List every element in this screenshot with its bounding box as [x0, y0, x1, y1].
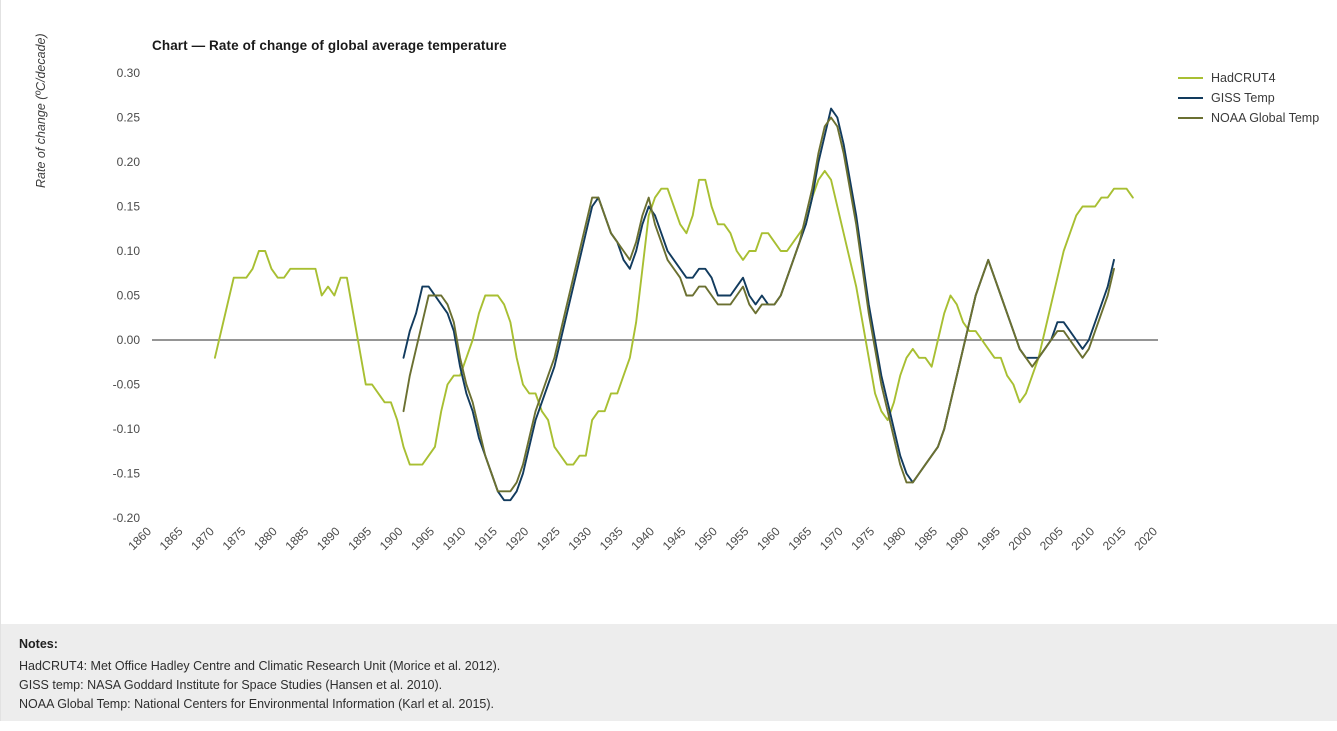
legend-swatch-icon — [1178, 97, 1203, 100]
x-tick-label: 1940 — [628, 524, 657, 553]
y-tick-label: -0.15 — [113, 467, 141, 481]
chart-region: Chart — Rate of change of global average… — [0, 0, 1337, 610]
page-bottom-edge — [0, 721, 1337, 731]
x-tick-label: 1885 — [283, 524, 312, 553]
x-tick-label: 1950 — [691, 524, 720, 553]
legend-item-noaa-global-temp[interactable]: NOAA Global Temp — [1178, 108, 1337, 128]
notes-panel: Notes: HadCRUT4: Met Office Hadley Centr… — [1, 624, 1337, 721]
x-tick-label: 1880 — [251, 524, 280, 553]
notes-line-hadcrut4: HadCRUT4: Met Office Hadley Centre and C… — [19, 657, 500, 676]
x-tick-label: 1910 — [440, 524, 469, 553]
x-tick-label: 1890 — [314, 524, 343, 553]
x-tick-label: 1905 — [408, 524, 437, 553]
x-tick-label: 1915 — [471, 524, 500, 553]
x-tick-label: 1965 — [786, 524, 815, 553]
notes-heading: Notes: — [19, 637, 500, 651]
series-line-giss-temp — [404, 109, 1114, 501]
x-tick-label: 2010 — [1068, 524, 1097, 553]
x-tick-label: 1865 — [157, 524, 186, 553]
x-tick-label: 1980 — [880, 524, 909, 553]
legend-item-hadcrut4[interactable]: HadCRUT4 — [1178, 68, 1337, 88]
x-tick-label: 2005 — [1037, 524, 1066, 553]
notes-line-giss: GISS temp: NASA Goddard Institute for Sp… — [19, 676, 500, 695]
notes-line-noaa: NOAA Global Temp: National Centers for E… — [19, 695, 500, 714]
x-tick-label: 1970 — [817, 524, 846, 553]
x-tick-label: 2000 — [1006, 524, 1035, 553]
x-tick-label: 1860 — [125, 524, 154, 553]
x-tick-label: 1955 — [723, 524, 752, 553]
x-tick-label: 1990 — [943, 524, 972, 553]
legend-swatch-icon — [1178, 117, 1203, 120]
x-tick-label: 1960 — [754, 524, 783, 553]
x-tick-label: 1985 — [911, 524, 940, 553]
chart-series-group — [215, 109, 1133, 501]
y-axis-ticks: 0.300.250.200.150.100.050.00-0.05-0.10-0… — [113, 66, 141, 525]
legend-label: HadCRUT4 — [1211, 71, 1276, 85]
chart-plot-svg: 0.300.250.200.150.100.050.00-0.05-0.10-0… — [0, 0, 1337, 610]
legend-item-giss-temp[interactable]: GISS Temp — [1178, 88, 1337, 108]
x-tick-label: 2020 — [1131, 524, 1160, 553]
y-tick-label: -0.10 — [113, 422, 141, 436]
y-tick-label: -0.05 — [113, 378, 141, 392]
y-tick-label: 0.20 — [117, 155, 141, 169]
legend-swatch-icon — [1178, 77, 1203, 80]
y-tick-label: 0.10 — [117, 244, 141, 258]
y-tick-label: 0.30 — [117, 66, 141, 80]
notes-content: Notes: HadCRUT4: Met Office Hadley Centr… — [19, 637, 500, 714]
y-tick-label: 0.05 — [117, 289, 141, 303]
x-tick-label: 1925 — [534, 524, 563, 553]
series-line-hadcrut4 — [215, 171, 1133, 465]
y-tick-label: 0.00 — [117, 333, 141, 347]
y-tick-label: 0.25 — [117, 111, 141, 125]
series-line-noaa-global-temp — [404, 118, 1114, 492]
x-tick-label: 1895 — [345, 524, 374, 553]
x-tick-label: 2015 — [1100, 524, 1129, 553]
x-tick-label: 1935 — [597, 524, 626, 553]
x-tick-label: 1900 — [377, 524, 406, 553]
legend-label: NOAA Global Temp — [1211, 111, 1319, 125]
x-tick-label: 1870 — [188, 524, 217, 553]
x-tick-label: 1930 — [565, 524, 594, 553]
x-tick-label: 1975 — [848, 524, 877, 553]
x-tick-label: 1945 — [660, 524, 689, 553]
x-tick-label: 1995 — [974, 524, 1003, 553]
x-tick-label: 1875 — [220, 524, 249, 553]
y-tick-label: -0.20 — [113, 511, 141, 525]
y-tick-label: 0.15 — [117, 200, 141, 214]
chart-legend: HadCRUT4GISS TempNOAA Global Temp — [1178, 68, 1337, 128]
x-tick-label: 1920 — [503, 524, 532, 553]
legend-label: GISS Temp — [1211, 91, 1275, 105]
x-axis-ticks: 1860186518701875188018851890189519001905… — [125, 524, 1160, 553]
